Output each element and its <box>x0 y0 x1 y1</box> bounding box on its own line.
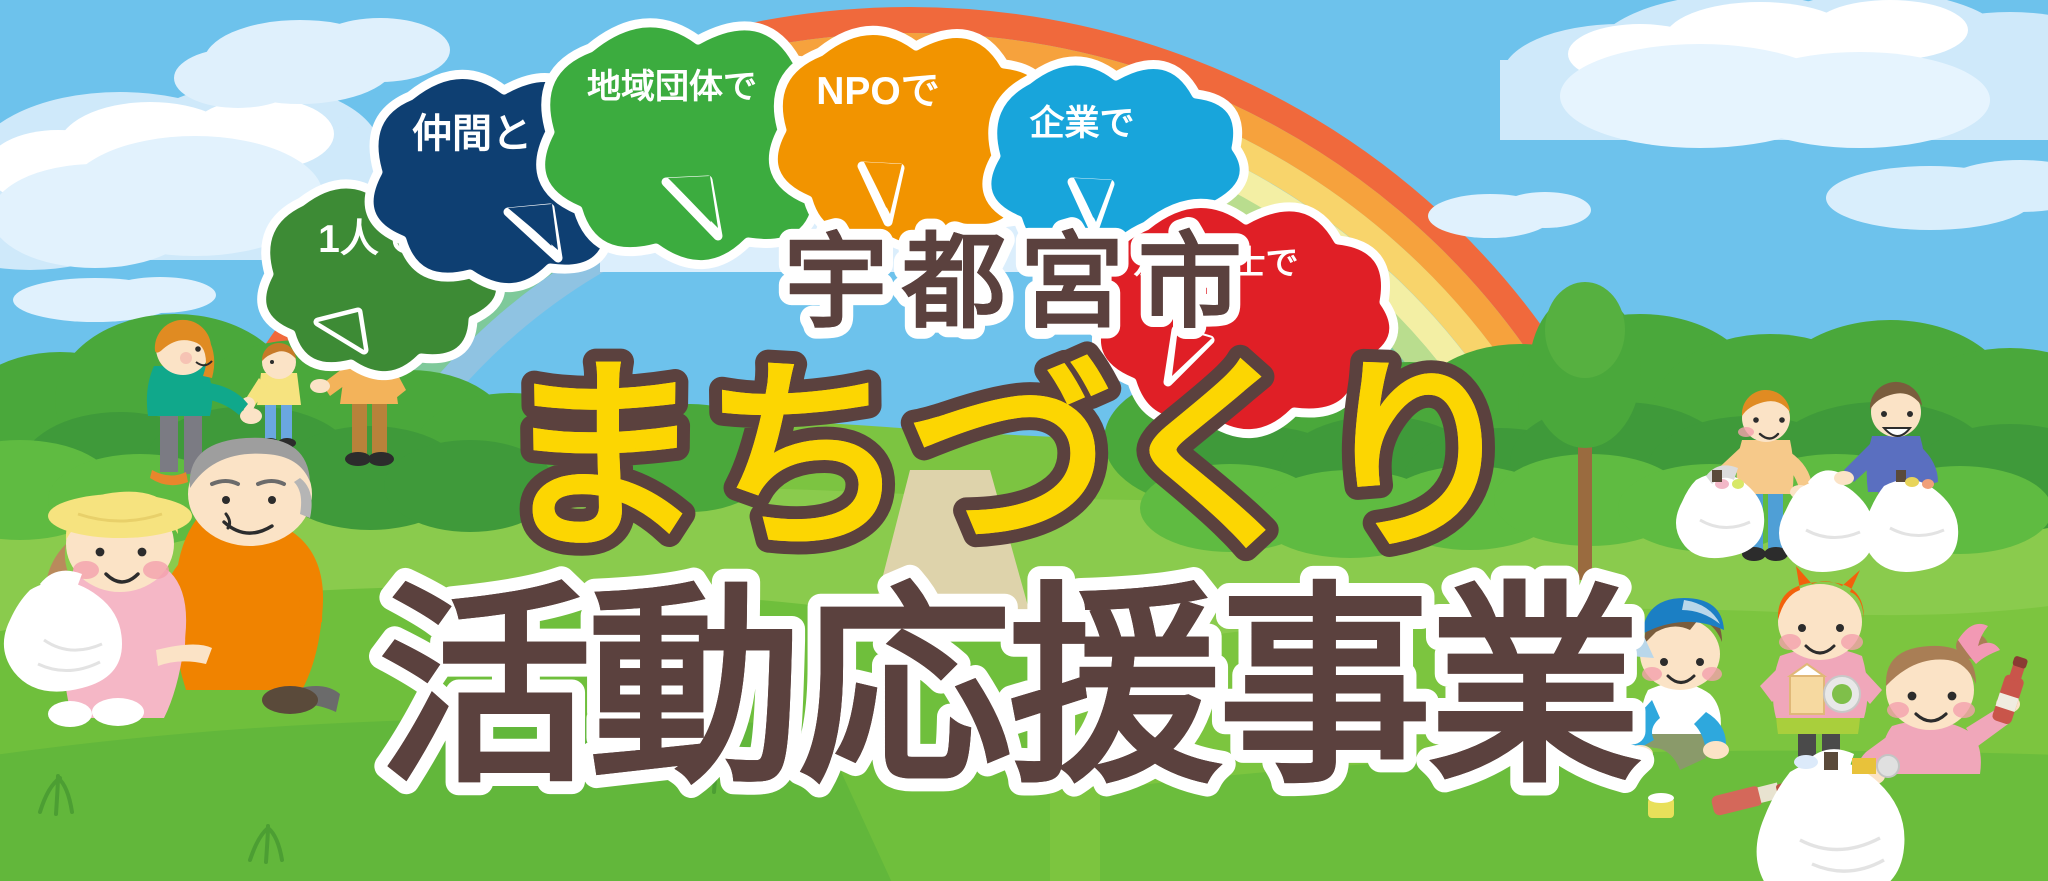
title-layer: 宇都宮市 宇都宮市 まちづくり まちづくり 活動応援事業 活動応援事業 <box>0 0 2048 881</box>
svg-text:活動応援事業: 活動応援事業 <box>378 564 1642 813</box>
svg-text:宇都宮市: 宇都宮市 <box>784 221 1256 343</box>
svg-text:まちづくり: まちづくり <box>498 338 1518 580</box>
banner-illustration: 1人で 仲間と 地域団体で NPOで 企業で <box>0 0 2048 881</box>
